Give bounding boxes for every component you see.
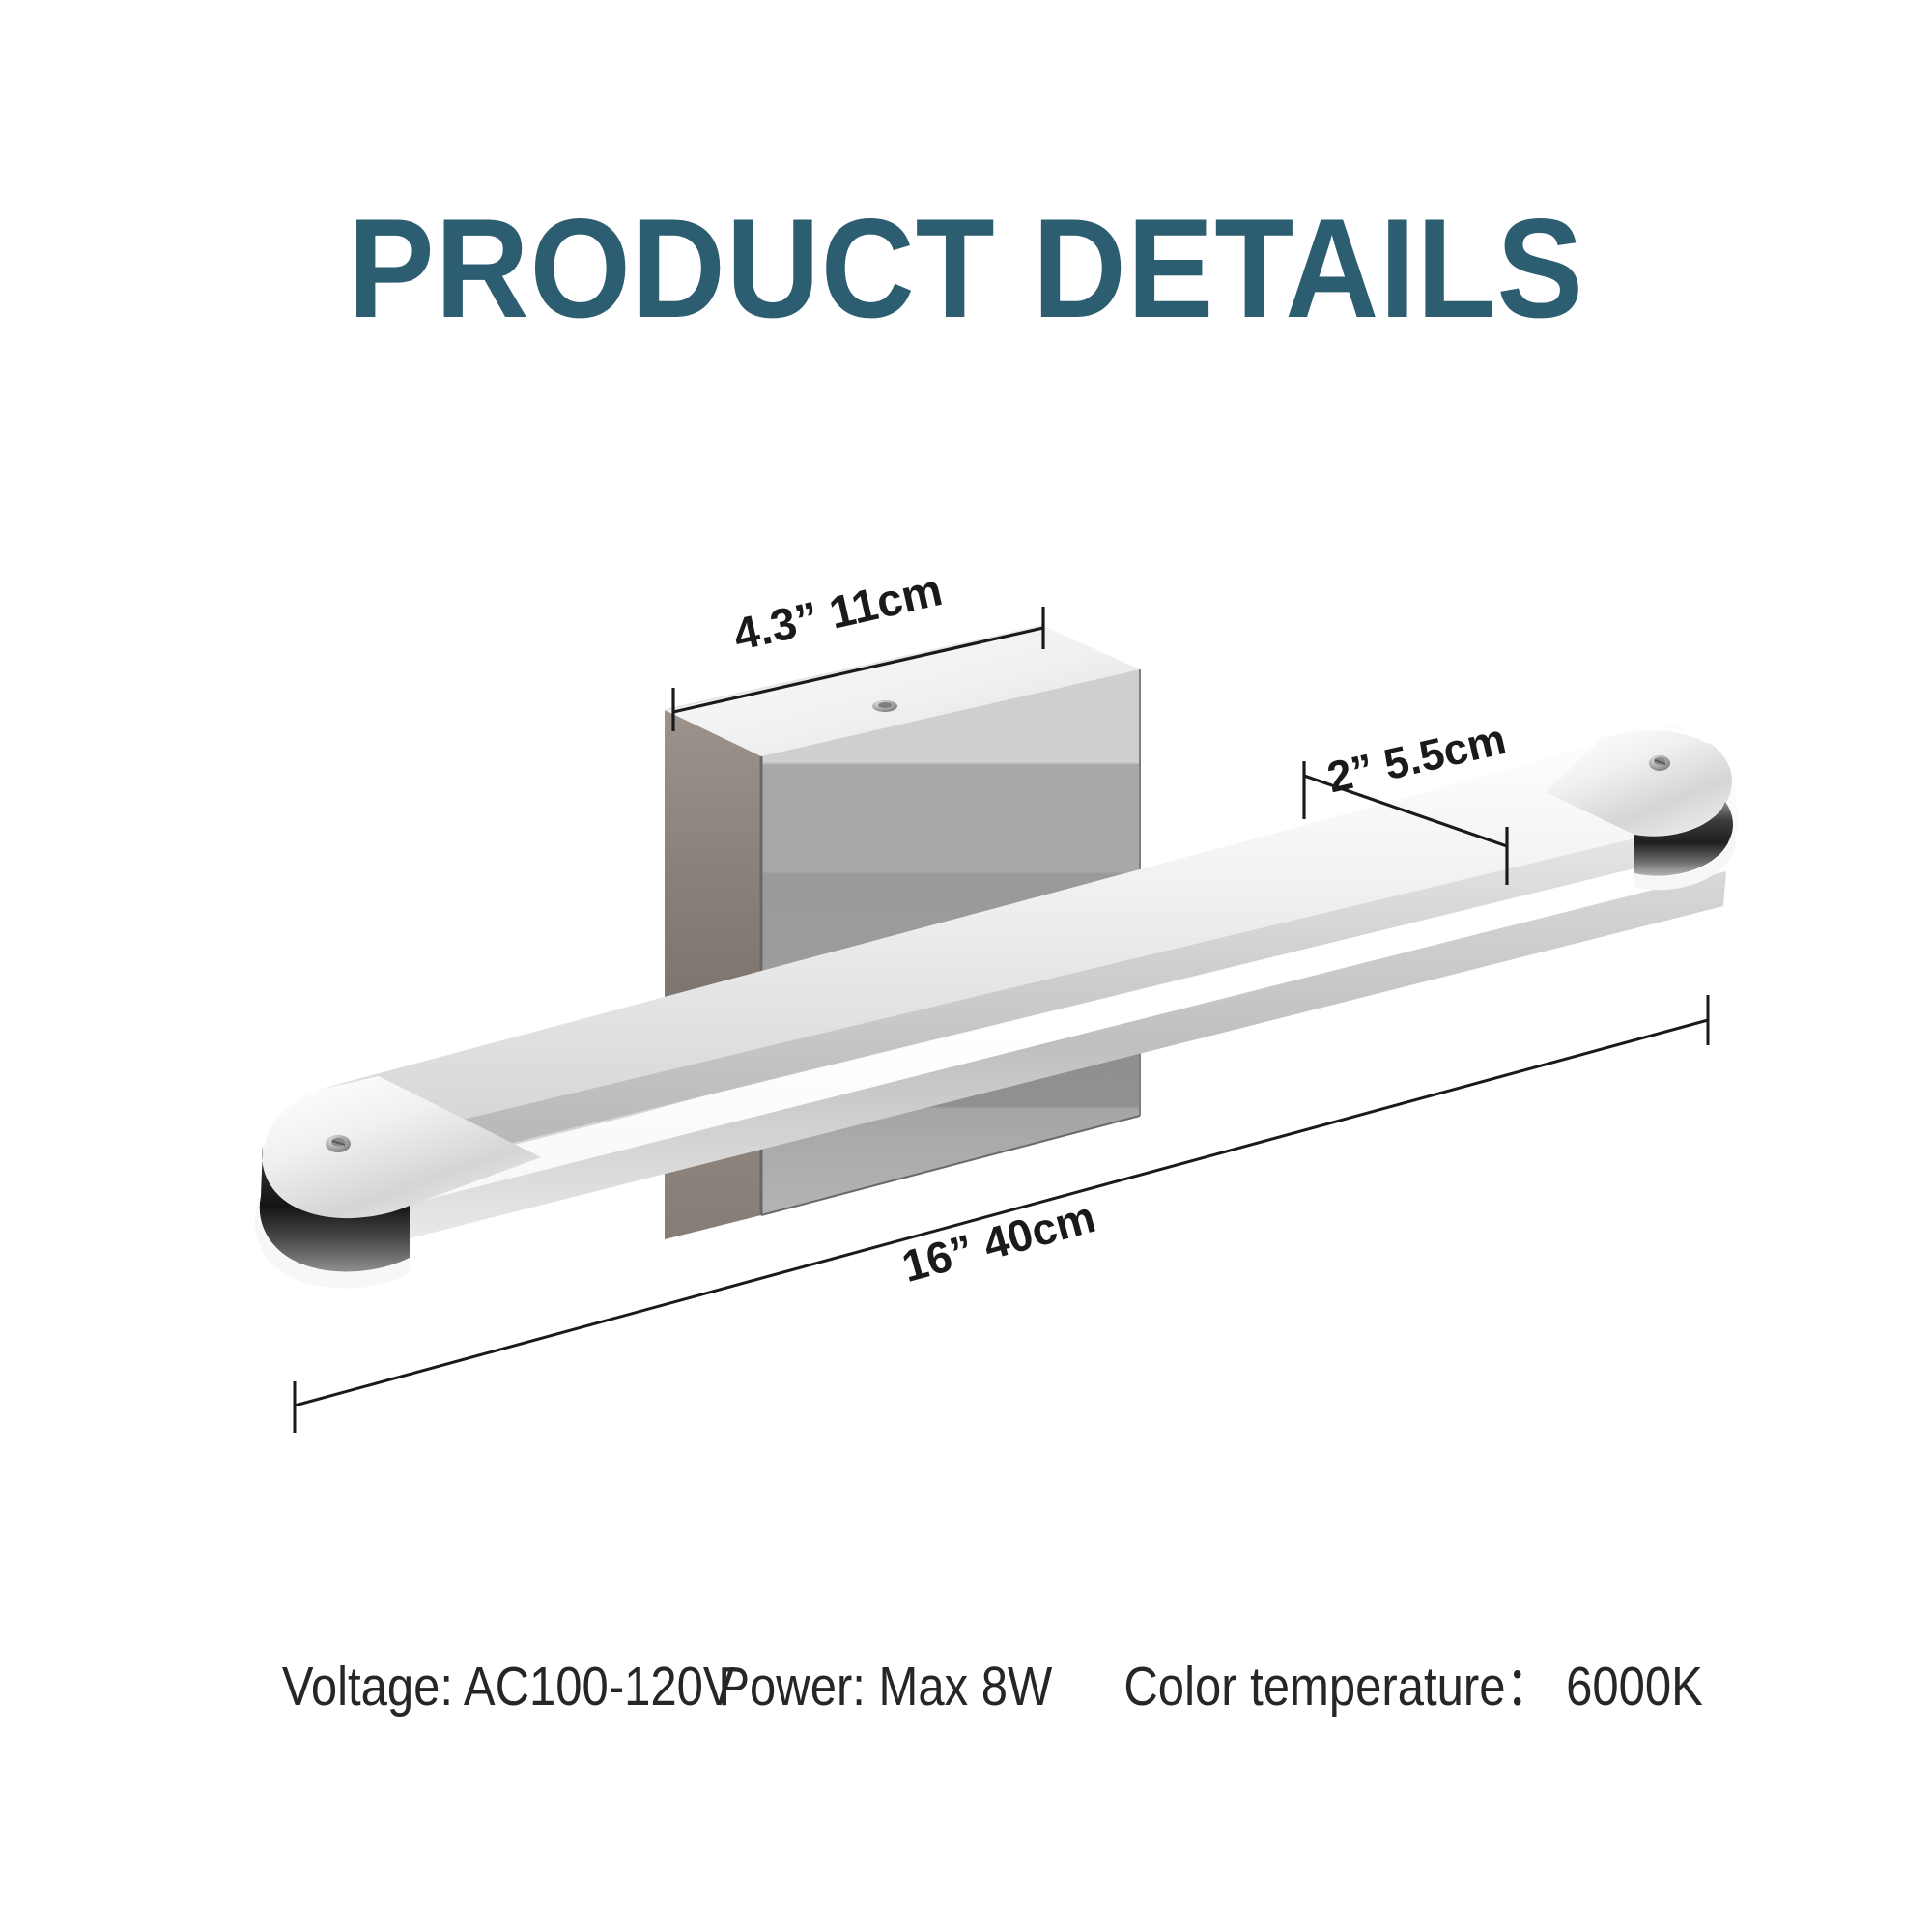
product-details-page: PRODUCT DETAILS <box>0 0 1932 1932</box>
spec-power: Power: Max 8W <box>718 1655 1054 1719</box>
spec-color-temperature: Color temperature： 6000K <box>1123 1642 1638 1721</box>
left-cap-screw <box>326 1135 351 1152</box>
spec-voltage: Voltage: AC100-120V <box>282 1655 660 1719</box>
top-screw <box>872 700 897 712</box>
right-cap-screw <box>1649 755 1670 771</box>
specification-row: Voltage: AC100-120V Power: Max 8W Color … <box>0 1642 1932 1721</box>
